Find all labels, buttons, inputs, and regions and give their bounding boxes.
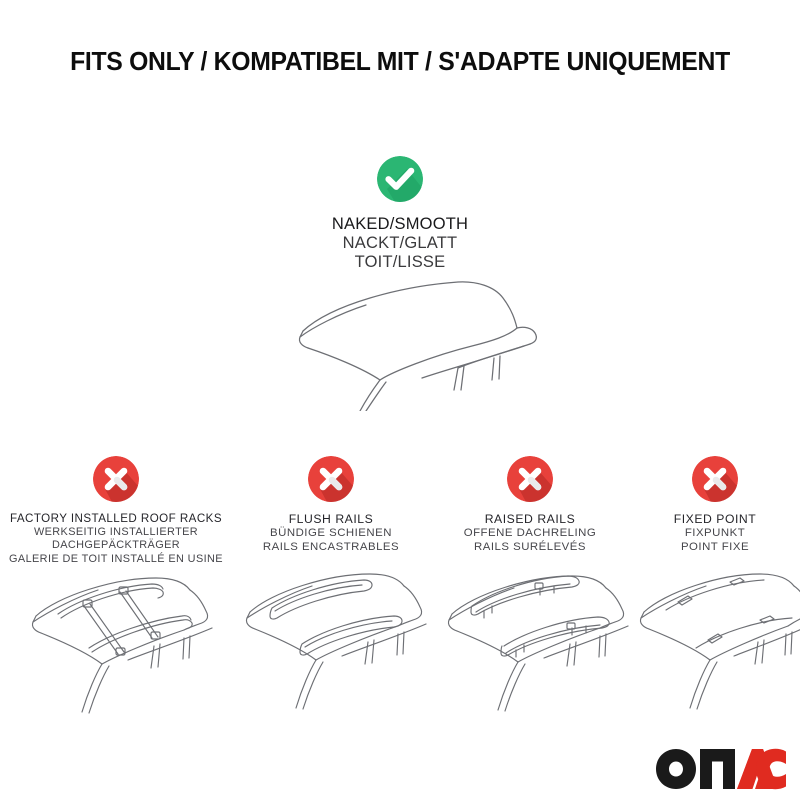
factory-racks-label-en: FACTORY INSTALLED ROOF RACKS bbox=[2, 512, 230, 526]
approved-labels: NAKED/SMOOTH NACKT/GLATT TOIT/LISSE bbox=[255, 215, 545, 272]
car-roof-with-flush-rails-illustration bbox=[222, 556, 432, 716]
flush-rails-labels: FLUSH RAILS BÜNDIGE SCHIENEN RAILS ENCAS… bbox=[233, 512, 429, 555]
car-roof-with-factory-crossbars-illustration bbox=[6, 556, 226, 716]
title-bar: FITS ONLY / KOMPATIBEL MIT / S'ADAPTE UN… bbox=[0, 48, 800, 76]
approved-label-de: NACKT/GLATT bbox=[255, 234, 545, 253]
flush-rails-label-en: FLUSH RAILS bbox=[233, 512, 429, 527]
green-check-icon bbox=[377, 156, 423, 202]
approved-label-fr: TOIT/LISSE bbox=[255, 253, 545, 272]
fixed-point-label-de: FIXPUNKT bbox=[632, 527, 798, 541]
rejected-roof-type-fixed-point: FIXED POINT FIXPUNKT POINT FIXE bbox=[632, 456, 798, 555]
page-title: FITS ONLY / KOMPATIBEL MIT / S'ADAPTE UN… bbox=[12, 48, 788, 76]
rejected-roof-type-factory-installed-roof-racks: FACTORY INSTALLED ROOF RACKS WERKSEITIG … bbox=[2, 456, 230, 566]
fixed-point-label-fr: POINT FIXE bbox=[632, 541, 798, 555]
raised-rails-label-fr: RAILS SURÉLEVÉS bbox=[432, 541, 628, 555]
car-roof-with-raised-rails-illustration bbox=[422, 556, 632, 716]
red-x-icon bbox=[507, 456, 553, 502]
factory-racks-label-de-2: DACHGEPÄCKTRÄGER bbox=[2, 539, 230, 552]
fixed-point-label-en: FIXED POINT bbox=[632, 512, 798, 527]
car-roof-with-fixed-points-illustration bbox=[618, 556, 800, 716]
rejected-roof-type-raised-rails: RAISED RAILS OFFENE DACHRELING RAILS SUR… bbox=[432, 456, 628, 555]
fixed-point-labels: FIXED POINT FIXPUNKT POINT FIXE bbox=[632, 512, 798, 555]
flush-rails-label-fr: RAILS ENCASTRABLES bbox=[233, 541, 429, 555]
bare-smooth-car-roof-illustration bbox=[262, 276, 542, 411]
omac-brand-logo bbox=[655, 748, 787, 790]
red-x-icon bbox=[308, 456, 354, 502]
red-x-icon bbox=[692, 456, 738, 502]
flush-rails-label-de: BÜNDIGE SCHIENEN bbox=[233, 527, 429, 541]
approved-label-en: NAKED/SMOOTH bbox=[255, 215, 545, 234]
red-x-icon bbox=[93, 456, 139, 502]
raised-rails-labels: RAISED RAILS OFFENE DACHRELING RAILS SUR… bbox=[432, 512, 628, 555]
factory-racks-label-de-1: WERKSEITIG INSTALLIERTER bbox=[2, 526, 230, 539]
raised-rails-label-en: RAISED RAILS bbox=[432, 512, 628, 527]
raised-rails-label-de: OFFENE DACHRELING bbox=[432, 527, 628, 541]
rejected-roof-type-flush-rails: FLUSH RAILS BÜNDIGE SCHIENEN RAILS ENCAS… bbox=[233, 456, 429, 555]
approved-roof-type-block: NAKED/SMOOTH NACKT/GLATT TOIT/LISSE bbox=[255, 156, 545, 272]
